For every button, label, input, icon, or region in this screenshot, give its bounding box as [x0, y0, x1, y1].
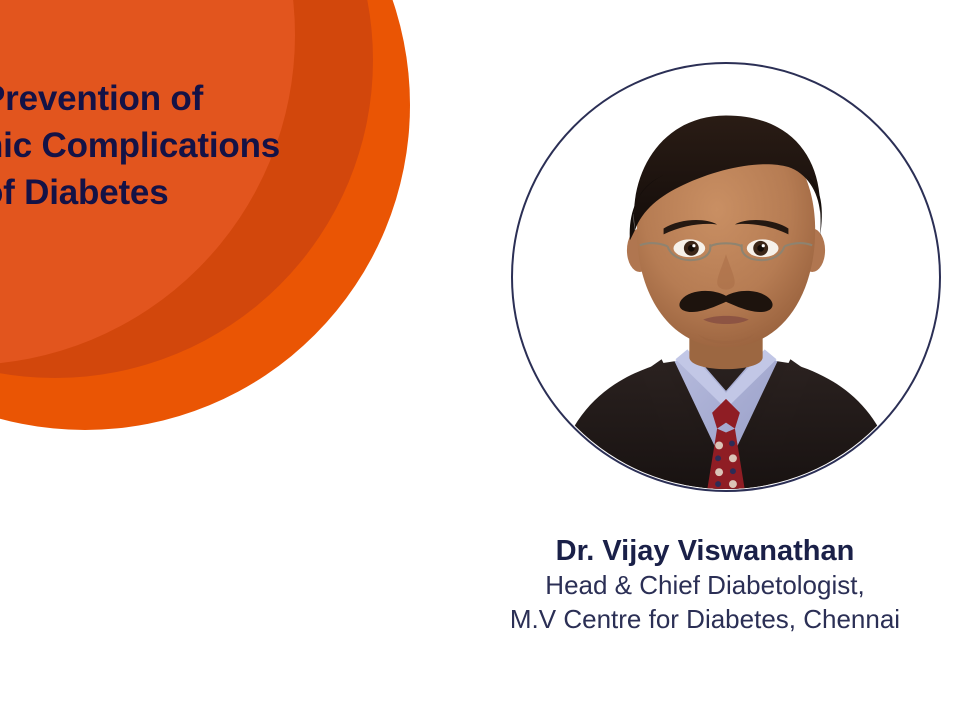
title-line-2: nic Complications: [0, 123, 402, 170]
title-line-3: of Diabetes: [0, 170, 402, 217]
speaker-name: Dr. Vijay Viswanathan: [450, 533, 960, 569]
speaker-organization: M.V Centre for Diabetes, Chennai: [450, 603, 960, 637]
speaker-portrait: [511, 62, 941, 492]
title-line-1: Prevention of: [0, 76, 402, 123]
slide-canvas: Prevention of nic Complications of Diabe…: [0, 0, 960, 720]
speaker-caption: Dr. Vijay Viswanathan Head & Chief Diabe…: [450, 533, 960, 637]
slide-title: Prevention of nic Complications of Diabe…: [0, 76, 402, 217]
speaker-role: Head & Chief Diabetologist,: [450, 569, 960, 603]
portrait-illustration: [513, 64, 939, 490]
